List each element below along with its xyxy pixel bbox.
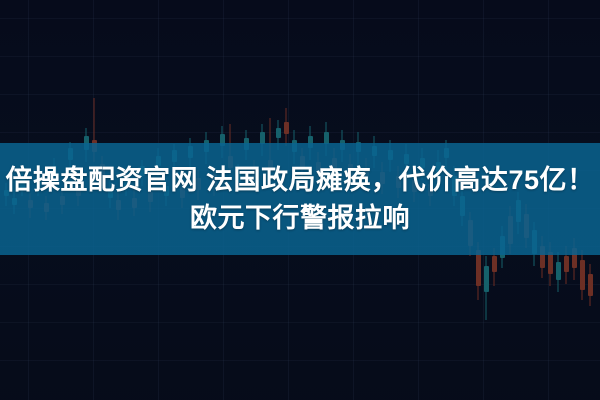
- candlestick-body: [564, 256, 569, 272]
- candlestick-body: [484, 266, 489, 292]
- candlestick: [556, 252, 561, 292]
- candlestick: [284, 108, 289, 146]
- candlestick: [588, 264, 593, 306]
- candlestick-body: [476, 250, 481, 286]
- headline-line-1: 倍操盘配资官网 法国政局瘫痪，代价高达75亿！: [5, 161, 594, 199]
- candlestick: [484, 256, 489, 320]
- headline-banner: 倍操盘配资官网 法国政局瘫痪，代价高达75亿！ 欧元下行警报拉响: [0, 143, 600, 255]
- candlestick-body: [284, 122, 289, 134]
- candlestick-body: [556, 262, 561, 280]
- candlestick: [580, 250, 585, 300]
- promo-banner-image: 倍操盘配资官网 法国政局瘫痪，代价高达75亿！ 欧元下行警报拉响: [0, 0, 600, 400]
- candlestick-body: [548, 252, 553, 274]
- candlestick-body: [580, 260, 585, 290]
- candlestick-body: [276, 128, 281, 138]
- candlestick-body: [492, 256, 497, 272]
- candlestick-body: [588, 274, 593, 296]
- headline-line-2: 欧元下行警报拉响: [190, 199, 410, 237]
